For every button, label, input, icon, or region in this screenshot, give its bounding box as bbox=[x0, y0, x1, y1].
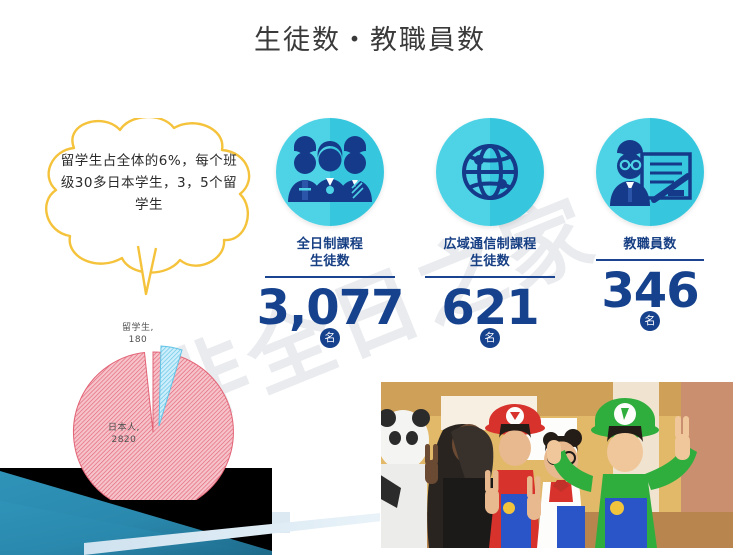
pie-label-name: 留学生 bbox=[122, 323, 151, 333]
stat-correspondence-students: 広域通信制課程 生徒数 621 名 bbox=[410, 118, 570, 388]
stat-divider bbox=[425, 276, 555, 278]
pie-label-value: 2820 bbox=[111, 435, 136, 445]
stat-faculty: 教職員数 346 名 bbox=[570, 118, 730, 388]
slide-canvas: 生徒数・教職員数 非全日之家 留学生占全体的6%，每个班级30多日本学生，3，5… bbox=[0, 0, 740, 555]
student-photo-image bbox=[381, 382, 733, 548]
stat-unit-badge: 名 bbox=[480, 328, 500, 348]
stat-label-line2: 生徒数 bbox=[470, 254, 510, 269]
stat-value: 3,077 bbox=[257, 282, 404, 334]
stat-unit-badge: 名 bbox=[640, 311, 660, 331]
teacher-board-glyph bbox=[596, 118, 704, 226]
stat-divider bbox=[265, 276, 395, 278]
globe-glyph bbox=[436, 118, 544, 226]
pie-slice-label-nihonjin: 日本人, 2820 bbox=[108, 422, 140, 446]
page-title: 生徒数・教職員数 bbox=[0, 24, 740, 58]
callout-bubble: 留学生占全体的6%，每个班级30多日本学生，3，5个留学生 bbox=[34, 118, 264, 303]
student-photo bbox=[380, 381, 734, 549]
three-students-icon bbox=[276, 118, 384, 226]
pie-slice-label-ryugakusei: 留学生, 180 bbox=[122, 322, 154, 346]
pie-label-name: 日本人 bbox=[108, 423, 137, 433]
teacher-board-icon bbox=[596, 118, 704, 226]
stat-label-line1: 広域通信制課程 bbox=[443, 237, 536, 252]
three-students-glyph bbox=[276, 118, 384, 226]
stat-value: 346 bbox=[601, 265, 698, 317]
pie-chart-graphic bbox=[60, 300, 250, 500]
stat-label: 広域通信制課程 生徒数 bbox=[443, 236, 536, 270]
stat-unit-badge: 名 bbox=[320, 328, 340, 348]
stat-value: 621 bbox=[441, 282, 538, 334]
pie-label-value: 180 bbox=[129, 335, 148, 345]
stat-divider bbox=[596, 259, 704, 261]
globe-icon bbox=[436, 118, 544, 226]
stat-label: 教職員数 bbox=[623, 236, 676, 253]
stat-label: 全日制課程 生徒数 bbox=[297, 236, 364, 270]
callout-text: 留学生占全体的6%，每个班级30多日本学生，3，5个留学生 bbox=[60, 150, 238, 216]
stat-full-time-students: 全日制課程 生徒数 3,077 名 bbox=[250, 118, 410, 388]
pie-chart: 留学生, 180 日本人, 2820 bbox=[60, 300, 250, 500]
stats-row: 全日制課程 生徒数 3,077 名 bbox=[250, 118, 730, 388]
stat-label-line1: 全日制課程 bbox=[297, 237, 364, 252]
stat-label-line2: 生徒数 bbox=[310, 254, 350, 269]
stat-label-line1: 教職員数 bbox=[623, 237, 676, 252]
